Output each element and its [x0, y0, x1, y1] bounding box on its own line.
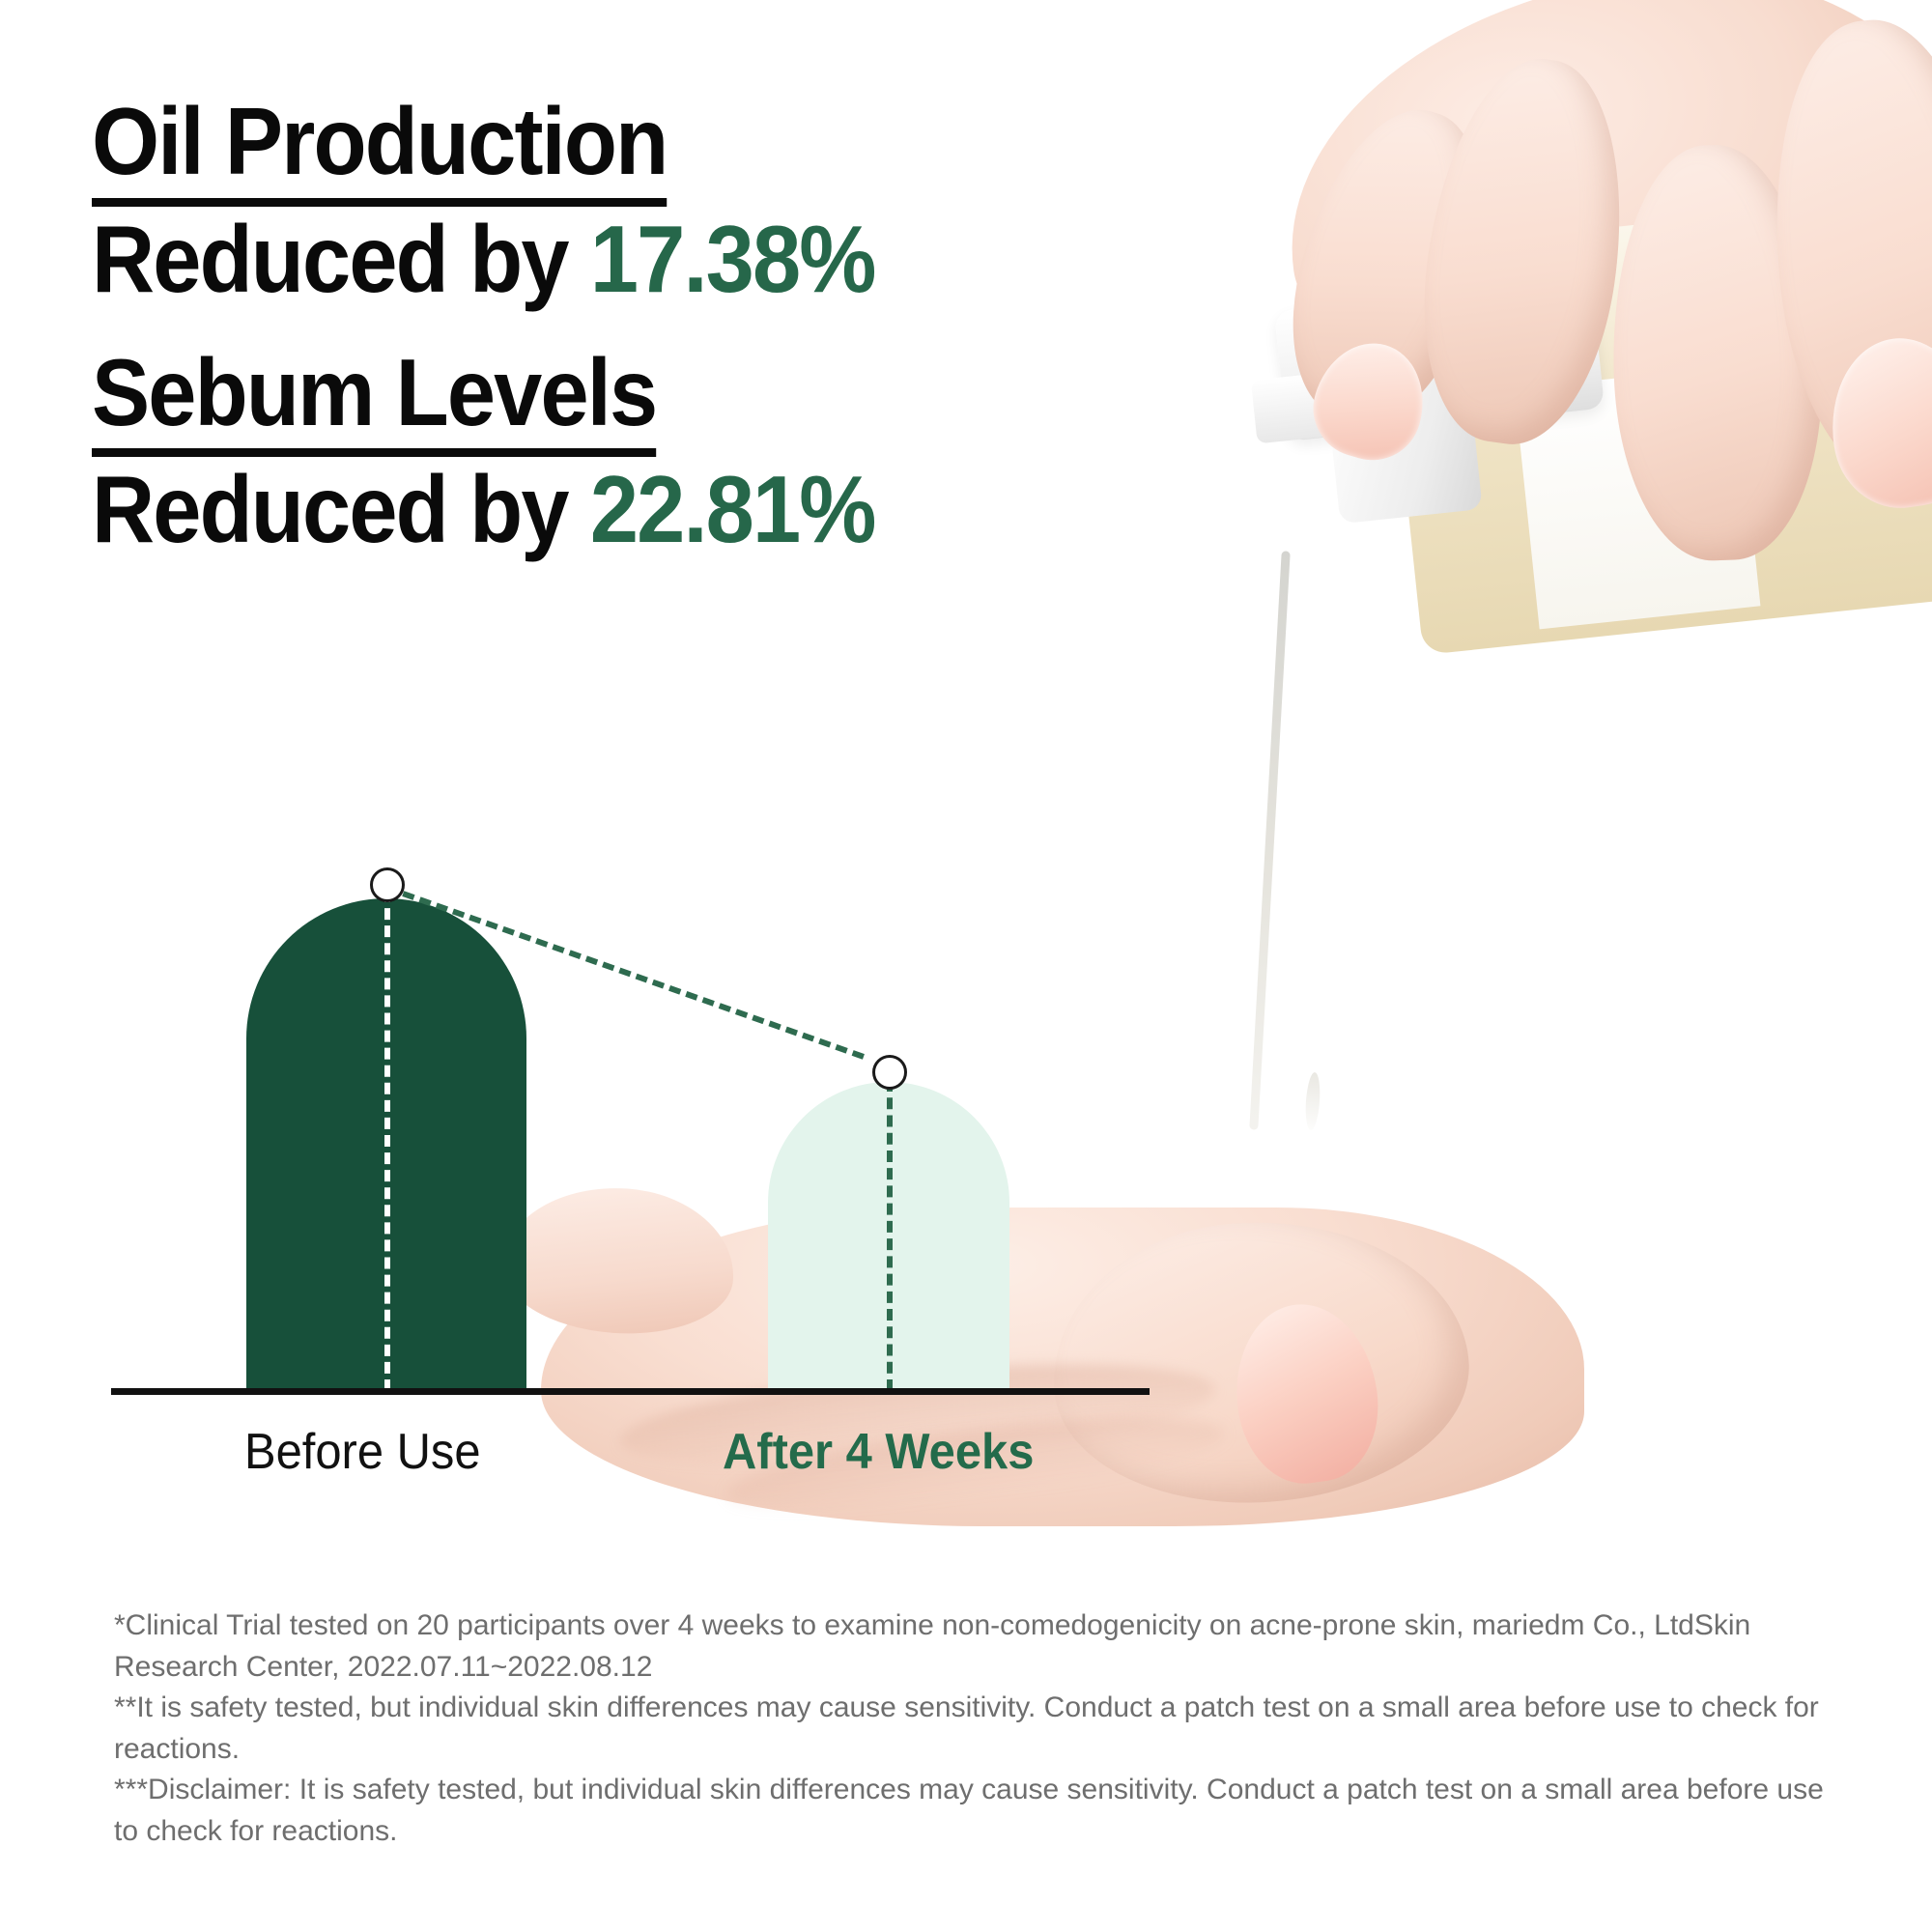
- headline-spacer: [92, 313, 943, 340]
- palm-crease-upper: [615, 1346, 1219, 1485]
- pump-collar: [1322, 341, 1482, 525]
- headline-reduced-by-label-1: Reduced by: [92, 206, 590, 312]
- serum-bottle-label: [1515, 366, 1761, 630]
- footnote-safety-test: **It is safety tested, but individual sk…: [114, 1688, 1853, 1770]
- headline-line-oil-production: Oil Production: [92, 89, 875, 207]
- bar-after-4-weeks: [768, 1082, 1009, 1391]
- index-fingernail: [1302, 330, 1438, 471]
- footnote-clinical-trial: *Clinical Trial tested on 20 participant…: [114, 1605, 1853, 1688]
- marker-before-use: [370, 867, 405, 902]
- serum-stream: [1249, 551, 1290, 1130]
- thumb-fingernail: [1821, 328, 1932, 516]
- headline-line-sebum-levels: Sebum Levels: [92, 340, 875, 458]
- headline-block: Oil Production Reduced by 17.38% Sebum L…: [92, 89, 943, 563]
- marker-after-4-weeks: [872, 1055, 907, 1090]
- pump-nozzle: [1251, 370, 1361, 444]
- bar-after-center-dashed-line: [887, 1080, 893, 1391]
- product-claim-infographic: Oil Production Reduced by 17.38% Sebum L…: [0, 0, 1932, 1932]
- ring-finger: [1606, 141, 1829, 563]
- headline-line-sebum-reduction: Reduced by 22.81%: [92, 457, 875, 563]
- axis-label-before-use: Before Use: [244, 1423, 481, 1481]
- headline-reduced-by-label-2: Reduced by: [92, 456, 590, 562]
- pump-head: [1274, 278, 1605, 441]
- palm-fingertip: [497, 1180, 739, 1341]
- footnote-disclaimer: ***Disclaimer: It is safety tested, but …: [114, 1770, 1853, 1852]
- serum-bottle-body: [1381, 195, 1932, 655]
- chart-baseline-axis: [111, 1388, 1150, 1395]
- oil-reduction-percent: 17.38%: [590, 206, 875, 312]
- thumb-finger: [1754, 9, 1932, 493]
- reduction-connector-dashed-line: [385, 885, 865, 1060]
- open-palm-image: [502, 1188, 1642, 1633]
- bar-before-center-dashed-line: [384, 891, 390, 1391]
- palm-thumbnail: [1225, 1295, 1388, 1492]
- hand-pressing-pump-bottle-image: [1111, 0, 1932, 696]
- serum-stream-tip: [1304, 1072, 1321, 1131]
- axis-label-after-4-weeks: After 4 Weeks: [723, 1423, 1034, 1481]
- palm-thumb: [1043, 1207, 1477, 1516]
- bar-before-use: [246, 898, 526, 1391]
- sebum-reduction-percent: 22.81%: [590, 456, 875, 562]
- palm-shape: [541, 1207, 1584, 1526]
- headline-sebum-levels-text: Sebum Levels: [92, 340, 656, 458]
- index-finger: [1264, 89, 1517, 442]
- headline-oil-production-text: Oil Production: [92, 89, 667, 207]
- middle-finger: [1404, 46, 1644, 455]
- hand-back-shape: [1260, 0, 1932, 432]
- headline-line-oil-reduction: Reduced by 17.38%: [92, 207, 875, 313]
- palm-crease-lower: [723, 1400, 1230, 1528]
- footnotes-block: *Clinical Trial tested on 20 participant…: [114, 1605, 1853, 1853]
